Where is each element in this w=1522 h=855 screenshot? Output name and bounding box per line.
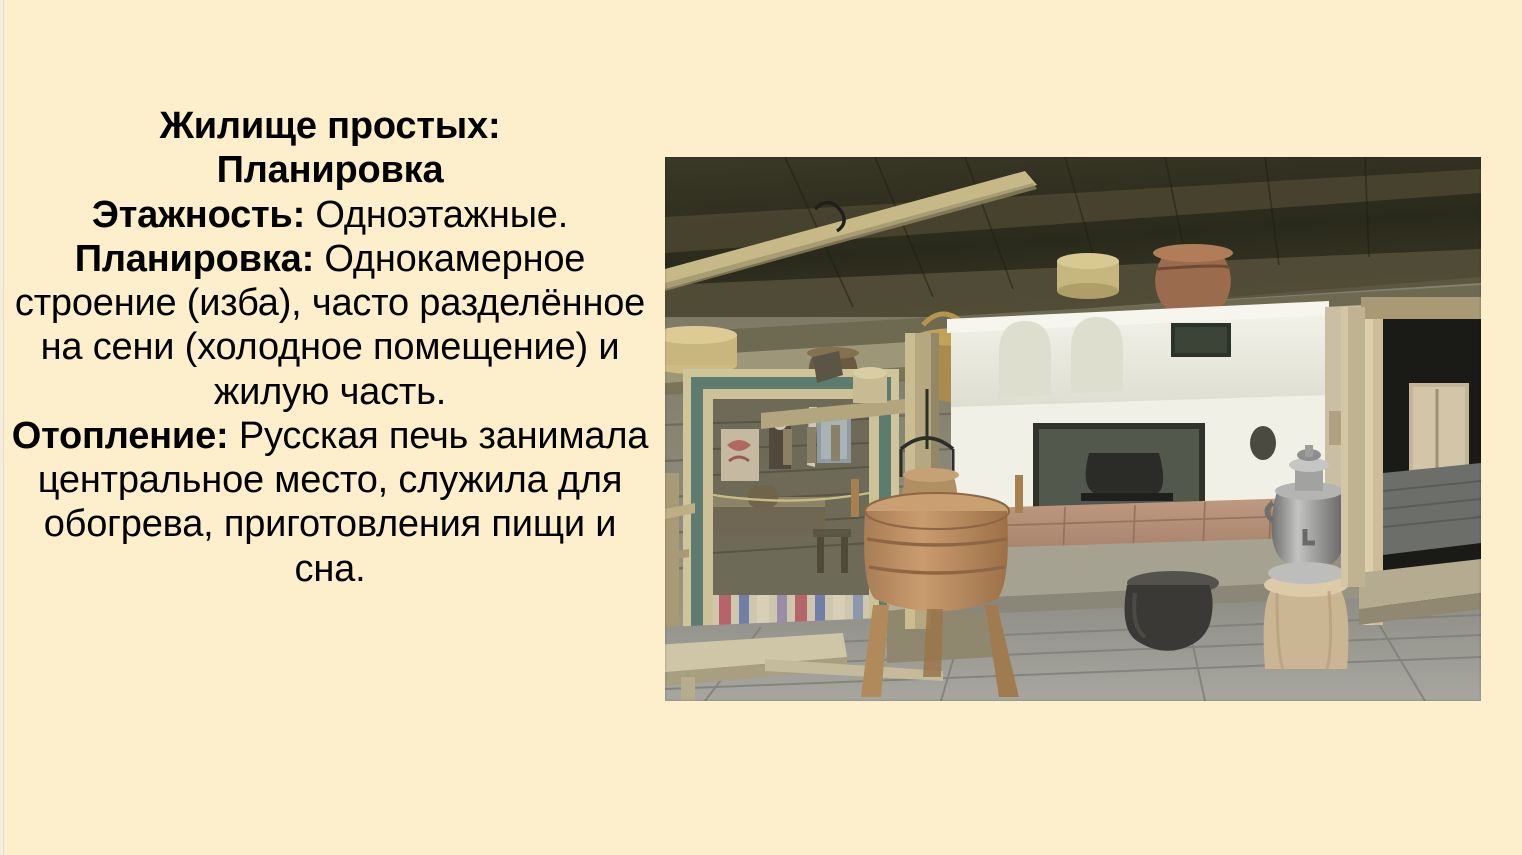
paragraph-stories: Этажность: Одноэтажные. <box>6 193 654 237</box>
birchbark-box <box>665 326 737 374</box>
paragraph-layout-lead: Планировка: <box>75 238 314 280</box>
paragraph-heating: Отопление: Русская печь занимала централ… <box>6 414 654 591</box>
wooden-tub-on-stand <box>851 475 1023 697</box>
wooden-round-box <box>1057 253 1119 299</box>
doorway-right <box>1359 297 1481 625</box>
stove-plaque <box>1250 426 1276 460</box>
presentation-slide: Жилище простых: Планировка Этажность: Од… <box>0 0 1522 855</box>
clay-pot-large <box>1153 244 1233 315</box>
izba-interior-photo <box>665 157 1481 701</box>
izba-interior-illustration <box>665 157 1481 701</box>
paragraph-layout: Планировка: Однокамерное строение (изба)… <box>6 237 654 414</box>
paragraph-heating-lead: Отопление: <box>12 415 229 457</box>
corner-post-right <box>1341 307 1365 587</box>
slide-title-line-2: Планировка <box>6 148 654 192</box>
paragraph-stories-text: Одноэтажные. <box>305 194 568 236</box>
stove-niche-1 <box>999 321 1051 397</box>
slide-title-line-1: Жилище простых: <box>6 104 654 148</box>
paragraph-stories-lead: Этажность: <box>92 194 305 236</box>
slide-text-block: Жилище простых: Планировка Этажность: Од… <box>6 104 654 591</box>
stove-niche-2 <box>1071 317 1123 393</box>
slide-left-edge-strip <box>0 0 4 855</box>
embroidered-cloth <box>721 429 759 481</box>
